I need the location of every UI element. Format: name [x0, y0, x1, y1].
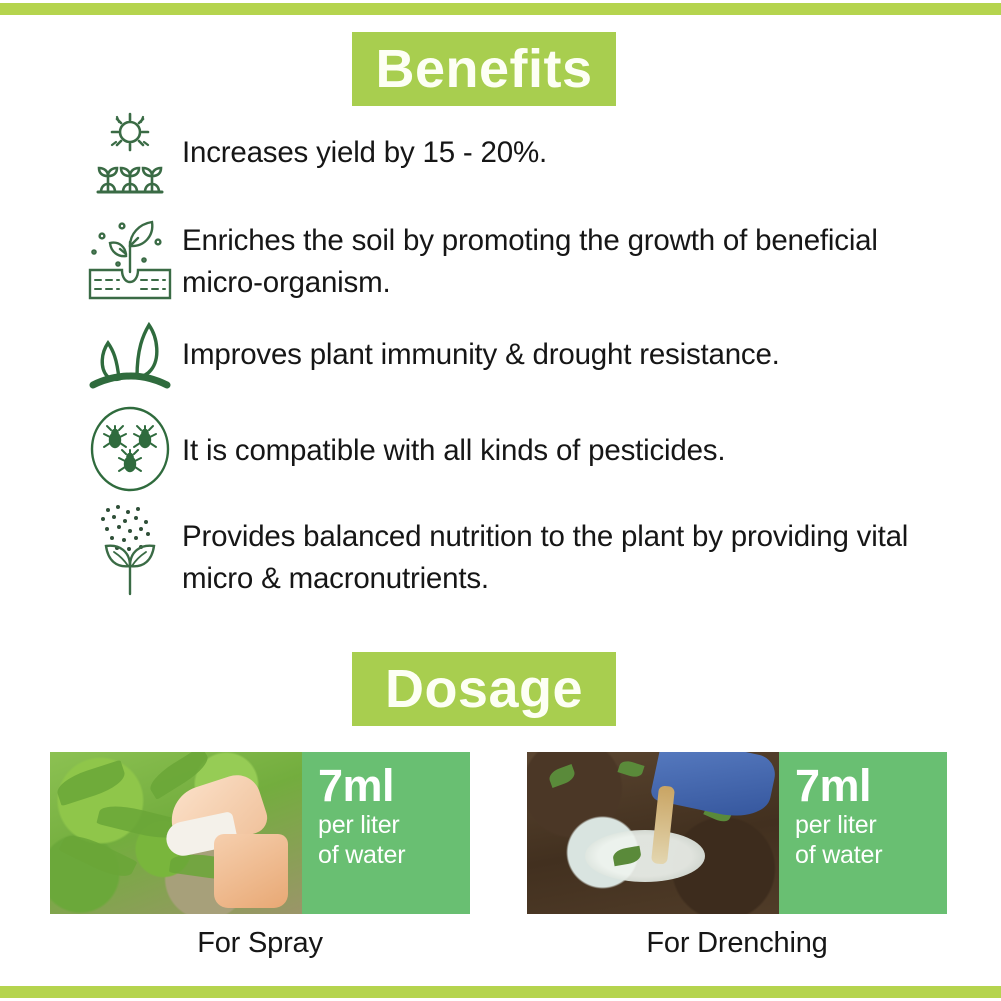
sun-seedlings-icon — [78, 104, 182, 200]
dose-amount: 7ml — [795, 762, 947, 810]
benefit-text: Enriches the soil by promoting the growt… — [182, 206, 942, 304]
dosage-caption-spray: For Spray — [50, 927, 470, 960]
watering-can-drenching-soil-photo — [527, 752, 779, 914]
dosage-card-spray: 7ml per liter of water — [50, 752, 470, 914]
dose-sub-line1: per liter — [318, 810, 470, 840]
spray-bottle-on-plants-photo — [50, 752, 302, 914]
benefit-text: Provides balanced nutrition to the plant… — [182, 500, 942, 600]
dosage-heading: Dosage — [352, 652, 616, 726]
plant-in-soil-icon — [78, 206, 182, 306]
two-leaves-icon — [78, 312, 182, 398]
dose-panel: 7ml per liter of water — [779, 752, 947, 914]
benefit-text: Increases yield by 15 - 20%. — [182, 104, 547, 174]
dose-amount: 7ml — [318, 762, 470, 810]
benefit-item: Enriches the soil by promoting the growt… — [0, 206, 1001, 306]
dosage-caption-drenching: For Drenching — [527, 927, 947, 960]
benefit-text: Improves plant immunity & drought resist… — [182, 312, 780, 376]
dose-sub-line1: per liter — [795, 810, 947, 840]
benefit-text: It is compatible with all kinds of pesti… — [182, 404, 725, 472]
top-accent-bar — [0, 3, 1001, 15]
dose-sub-line2: of water — [795, 840, 947, 870]
dose-panel: 7ml per liter of water — [302, 752, 470, 914]
benefit-item: It is compatible with all kinds of pesti… — [0, 404, 1001, 494]
bottom-accent-bar — [0, 986, 1001, 998]
benefit-item: Improves plant immunity & drought resist… — [0, 312, 1001, 398]
benefits-heading: Benefits — [352, 32, 616, 106]
dosage-card-drenching: 7ml per liter of water — [527, 752, 947, 914]
benefit-item: Provides balanced nutrition to the plant… — [0, 500, 1001, 600]
granules-sprout-icon — [78, 500, 182, 600]
benefits-list: Increases yield by 15 - 20%. Enric — [0, 104, 1001, 606]
dose-sub-line2: of water — [318, 840, 470, 870]
insects-circle-icon — [78, 404, 182, 494]
benefit-item: Increases yield by 15 - 20%. — [0, 104, 1001, 200]
